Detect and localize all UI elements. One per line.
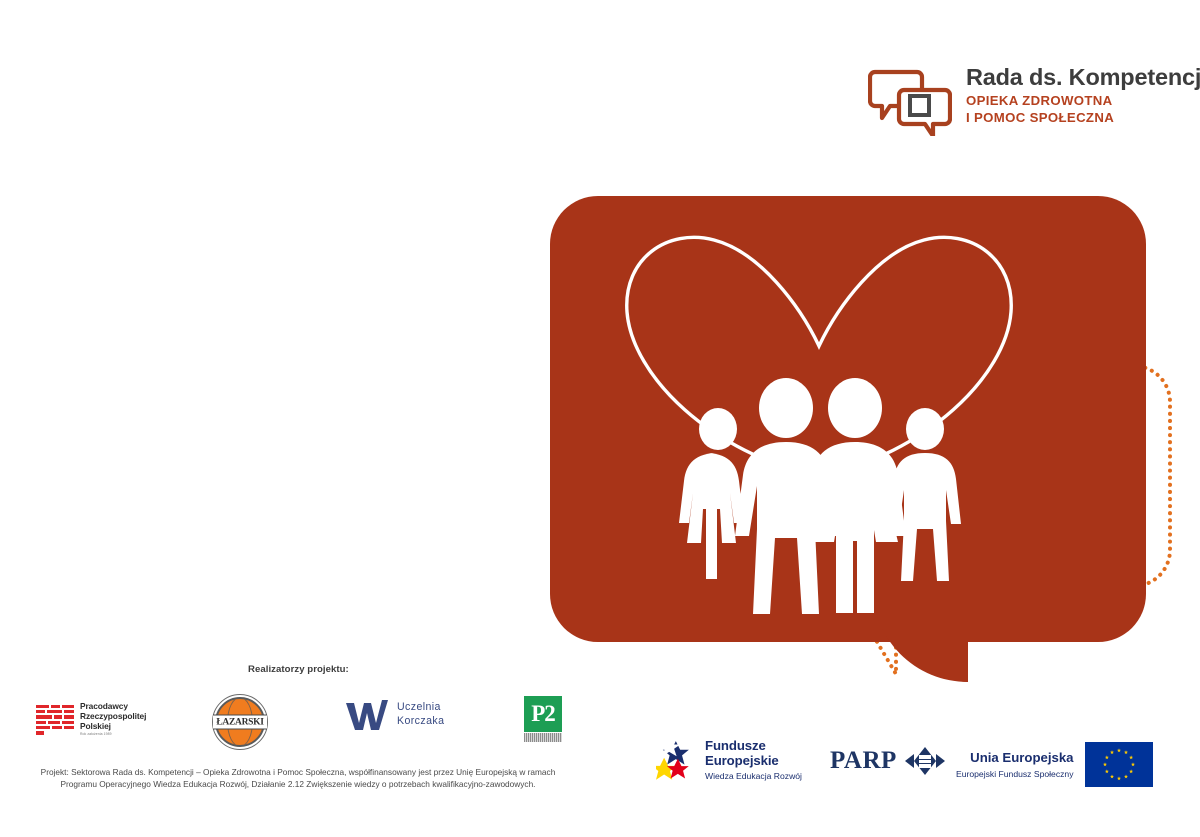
brand-header: Rada ds. Kompetencji OPIEKA ZDROWOTNA I … <box>868 62 1188 142</box>
p2-caption-strip <box>524 733 562 742</box>
partner-logo-lazarski: ŁAZARSKI <box>212 694 268 750</box>
parp-wordmark: PARP <box>830 747 897 775</box>
partner-logo-uczelnia-korczaka: Uczelnia Korczaka <box>345 700 444 730</box>
pracodawcy-line3: Polskiej <box>80 722 146 732</box>
korczaka-w-icon <box>345 700 389 730</box>
pracodawcy-fine-print: Rok założenia 1989 <box>80 733 146 737</box>
family-heart-speech-bubble-illustration <box>540 186 1200 686</box>
unia-europejska-logo: Unia Europejska Europejski Fundusz Społe… <box>956 742 1153 787</box>
lazarski-wordmark-band: ŁAZARSKI <box>213 715 267 730</box>
brand-subtitle-line2: I POMOC SPOŁECZNA <box>966 110 1200 127</box>
pracodawcy-bars-icon <box>36 705 74 735</box>
project-description-line2: Programu Operacyjnego Wiedza Edukacja Ro… <box>14 778 582 790</box>
eu-funding-bar: Fundusze Europejskie Wiedza Edukacja Roz… <box>640 734 1188 790</box>
project-description: Projekt: Sektorowa Rada ds. Kompetencji … <box>14 766 582 791</box>
partner-logo-p2: P2 <box>524 696 562 742</box>
brand-wordmark: Rada ds. Kompetencji OPIEKA ZDROWOTNA I … <box>966 62 1200 127</box>
korczaka-line1: Uczelnia <box>397 701 444 715</box>
fundusze-europejskie-logo: Fundusze Europejskie Wiedza Edukacja Roz… <box>656 738 802 782</box>
p2-wordmark: P2 <box>531 701 555 727</box>
parp-diamond-arrow-icon <box>905 746 945 776</box>
fundusze-line2: Europejskie <box>705 754 802 769</box>
lazarski-wordmark: ŁAZARSKI <box>216 717 263 727</box>
unia-line2: Europejski Fundusz Społeczny <box>956 769 1074 779</box>
fundusze-line3: Wiedza Edukacja Rozwój <box>705 772 802 782</box>
partner-logo-pracodawcy-rp: Pracodawcy Rzeczypospolitej Polskiej Rok… <box>36 702 146 737</box>
eu-flag-icon <box>1085 742 1153 787</box>
project-description-line1: Projekt: Sektorowa Rada ds. Kompetencji … <box>14 766 582 778</box>
brand-subtitle-line1: OPIEKA ZDROWOTNA <box>966 93 1200 110</box>
unia-line1: Unia Europejska <box>956 750 1074 766</box>
brand-subtitle: OPIEKA ZDROWOTNA I POMOC SPOŁECZNA <box>966 93 1200 126</box>
p2-badge: P2 <box>524 696 562 732</box>
korczaka-line2: Korczaka <box>397 715 444 729</box>
partner-logos-row: Pracodawcy Rzeczypospolitej Polskiej Rok… <box>0 694 600 754</box>
speech-bubbles-icon <box>868 66 952 136</box>
partners-label: Realizatorzy projektu: <box>248 664 349 675</box>
fundusze-stars-icon <box>656 738 696 782</box>
page-title: Rada ds. Kompetencji <box>966 64 1200 90</box>
fundusze-line1: Fundusze <box>705 739 802 754</box>
parp-logo: PARP <box>830 746 945 776</box>
